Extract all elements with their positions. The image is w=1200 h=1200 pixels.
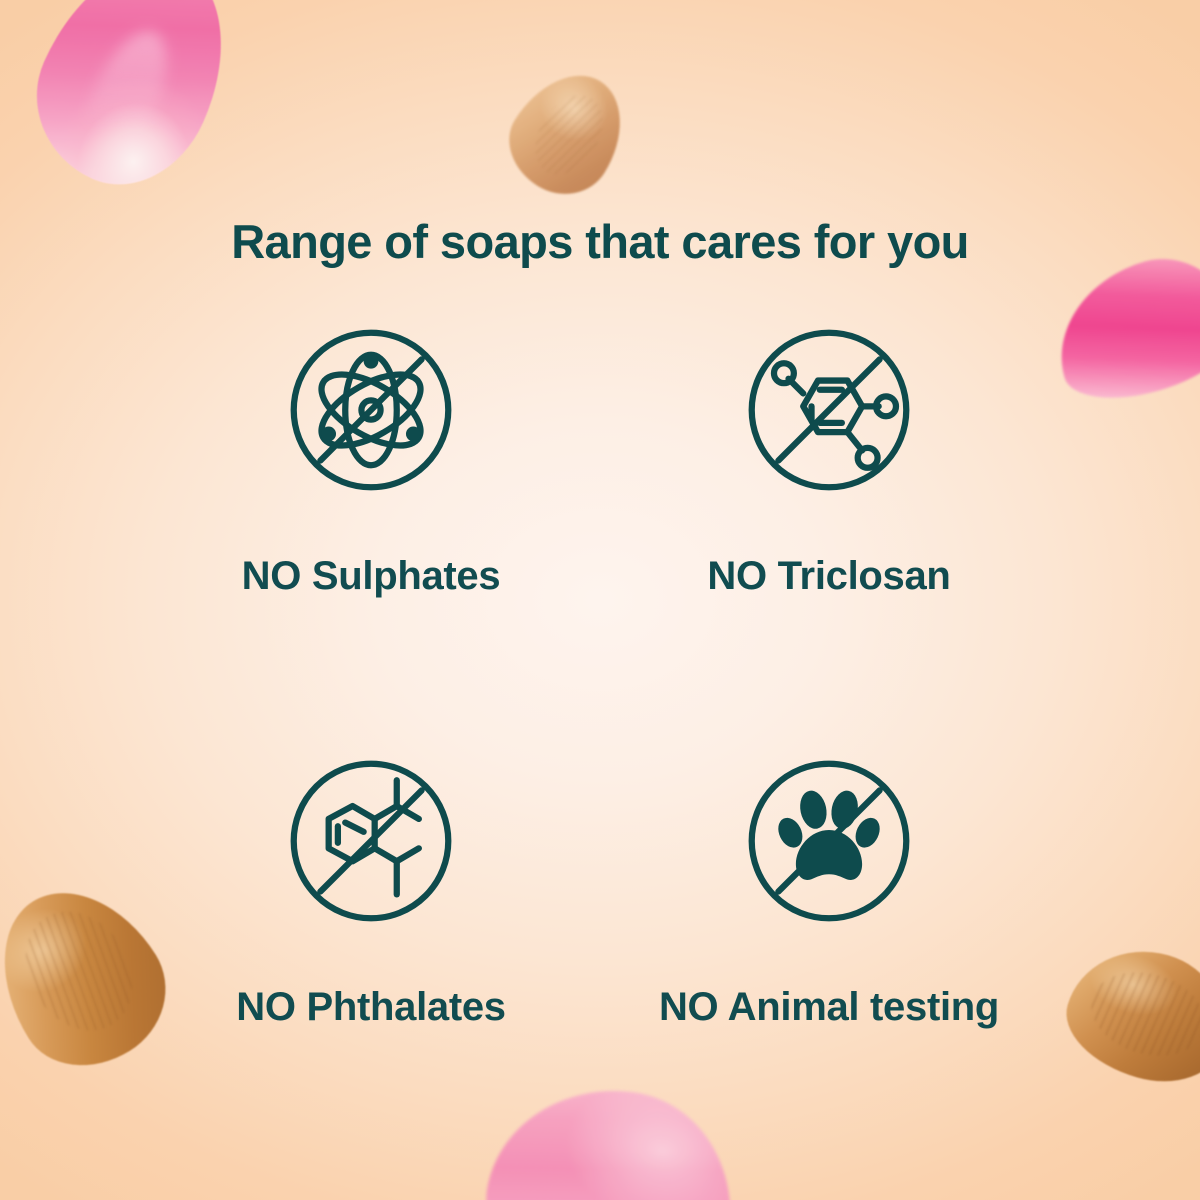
claim-label: NO Triclosan	[707, 554, 950, 599]
claim-label: NO Animal testing	[659, 985, 999, 1030]
no-paw-print-icon	[737, 749, 921, 933]
no-molecule-icon	[737, 318, 921, 502]
soap-benefits-banner: Range of soaps that cares for you NO Sul…	[0, 0, 1200, 1200]
page-title: Range of soaps that cares for you	[0, 214, 1200, 269]
claim-no-triclosan: NO Triclosan	[600, 318, 1058, 599]
claim-label: NO Phthalates	[236, 985, 506, 1030]
claim-no-animal-testing: NO Animal testing	[600, 749, 1058, 1030]
claim-no-phthalates: NO Phthalates	[142, 749, 600, 1030]
claims-grid: NO Sulphates NO Tric	[142, 318, 1058, 1030]
claim-label: NO Sulphates	[242, 554, 501, 599]
claim-no-sulphates: NO Sulphates	[142, 318, 600, 599]
no-atom-icon	[279, 318, 463, 502]
no-chemical-structure-icon	[279, 749, 463, 933]
